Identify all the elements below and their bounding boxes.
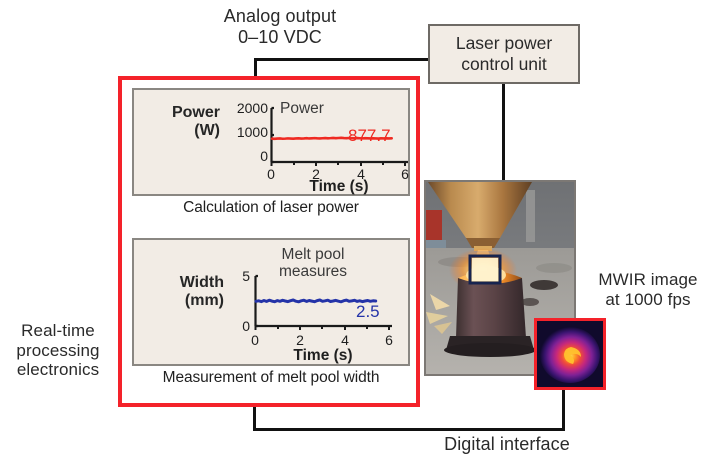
power-ytick-2000: 2000 [220,100,268,116]
real-time-processing-group: Power (W) Power 2000 1000 0 0 2 [118,76,420,407]
mwir-image-label: MWIR image at 1000 fps [580,270,716,309]
wire-digital-horizontal [253,428,565,431]
diagram-canvas: Analog output 0–10 VDC Laser power contr… [0,0,720,461]
digital-interface-label: Digital interface [394,434,620,455]
panel-power: Power (W) Power 2000 1000 0 0 2 [132,88,410,217]
power-y-axis-title: Power (W) [136,104,220,140]
mwir-content [537,321,603,387]
power-panel-caption: Calculation of laser power [132,199,410,217]
width-xtick-6: 6 [374,332,404,348]
real-time-processing-electronics-label: Real-time processing electronics [2,321,114,380]
power-ytick-1000: 1000 [220,124,268,140]
width-ytick-5: 5 [220,268,250,284]
power-x-axis-title: Time (s) [279,178,399,196]
panel-melt-pool-width: Width (mm) Melt pool measures 5 0 0 2 4 … [132,238,410,387]
width-x-axis-title: Time (s) [263,347,383,365]
power-value-readout: 877.7 [348,126,391,146]
width-y-axis-title: Width (mm) [140,274,224,310]
power-ytick-0: 0 [220,148,268,164]
wire-control-unit-to-photo [502,84,505,182]
laser-power-control-unit-box[interactable]: Laser power control unit [428,24,580,84]
width-chart-frame: Width (mm) Melt pool measures 5 0 0 2 4 … [132,238,410,366]
width-panel-caption: Measurement of melt pool width [132,369,410,387]
width-xtick-2: 2 [285,332,315,348]
analog-output-label: Analog output 0–10 VDC [150,6,410,48]
width-xtick-0: 0 [240,332,270,348]
width-xtick-4: 4 [330,332,360,348]
mwir-thermal-image [534,318,606,390]
width-value-readout: 2.5 [356,302,380,322]
power-chart-frame: Power (W) Power 2000 1000 0 0 2 [132,88,410,196]
wire-analog-horizontal [254,58,432,61]
